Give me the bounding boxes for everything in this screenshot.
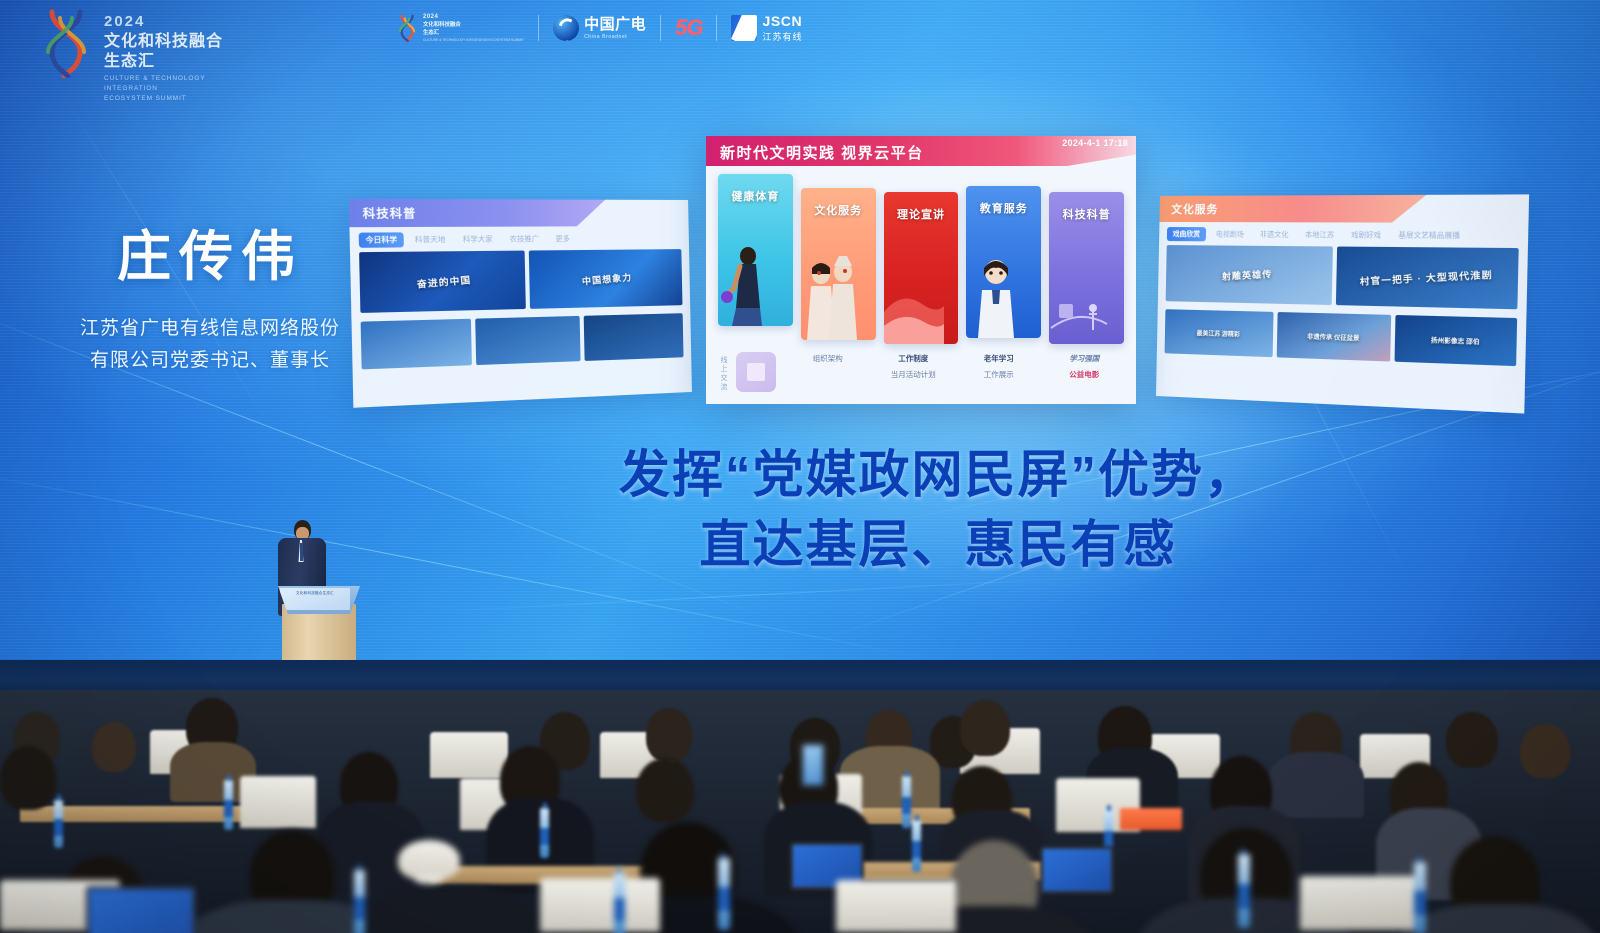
panel-right-thumbs-bottom: 最美江苏 游精彩 非遗传承 仪征盆景 扬州影像志 邵伯 bbox=[1157, 309, 1527, 375]
tab-jiceng-wenyi[interactable]: 基层文艺精品展播 bbox=[1392, 228, 1467, 243]
tab-nongji-tuiguang[interactable]: 农技推广 bbox=[503, 232, 545, 247]
podium-top: 文化和科技融合生态汇 bbox=[278, 586, 360, 614]
video-thumb[interactable]: 射雕英雄传 bbox=[1166, 245, 1333, 305]
tab-more[interactable]: 更多 bbox=[549, 232, 576, 247]
red-flag-illustration bbox=[884, 252, 944, 344]
panel-right-tabs: 戏曲欣赏 电视剧场 非遗文化 本地江苏 戏剧好戏 基层文艺精品展播 bbox=[1159, 222, 1528, 248]
video-thumb[interactable] bbox=[475, 316, 580, 365]
dna-helix-icon bbox=[396, 13, 418, 43]
panel-cultural-services: 文化服务 戏曲欣赏 电视剧场 非遗文化 本地江苏 戏剧好戏 基层文艺精品展播 射… bbox=[1156, 194, 1529, 413]
video-thumb[interactable]: 最美江苏 游精彩 bbox=[1165, 309, 1274, 357]
platform-link-blank bbox=[788, 368, 868, 382]
panel-civilization-practice-platform: 新时代文明实践 视界云平台 2024-4-1 17:18 健康体育 文化服务 bbox=[706, 136, 1136, 404]
podium-banner-text: 文化和科技融合生态汇 bbox=[280, 591, 350, 596]
video-thumb-label: 扬州影像志 邵伯 bbox=[1431, 335, 1480, 346]
video-thumb[interactable] bbox=[584, 313, 684, 361]
ping-pong-player-illustration bbox=[718, 234, 778, 326]
sponsor-china-broadnet: 中国广电 China Broadnet bbox=[539, 15, 660, 41]
conference-photo: 2024 文化和科技融合 生态汇 CULTURE & TECHNOLOGY IN… bbox=[0, 0, 1600, 933]
podium: 文化和科技融合生态汇 bbox=[282, 586, 356, 668]
panel-right-thumbs-top: 射雕英雄传 村官一把手 · 大型现代淮剧 bbox=[1158, 245, 1528, 318]
video-thumb[interactable]: 非遗传承 仪征盆景 bbox=[1276, 312, 1391, 362]
led-screen: 2024 文化和科技融合 生态汇 CULTURE & TECHNOLOGY IN… bbox=[0, 0, 1600, 668]
sponsor-broadnet-en: China Broadnet bbox=[584, 34, 646, 40]
video-thumb[interactable]: 中国想象力 bbox=[529, 249, 683, 309]
phone-recording bbox=[800, 742, 826, 788]
platform-link-work-system[interactable]: 工作制度 bbox=[874, 352, 954, 366]
panel-left-tabs: 今日科学 科普天地 科学大家 农技推广 更多 bbox=[349, 226, 689, 252]
panel-left-title: 科技科普 bbox=[363, 204, 417, 221]
sponsor-summit-year: 2024 bbox=[423, 13, 524, 22]
speaker-title: 江苏省广电有线信息网络股份 有限公司党委书记、董事长 bbox=[60, 313, 360, 376]
category-card-label: 健康体育 bbox=[718, 188, 793, 204]
tab-kepu-tiandi[interactable]: 科普天地 bbox=[408, 232, 452, 247]
slide-headline: 发挥“党媒政网民屏”优势， 直达基层、惠民有感 bbox=[608, 440, 1268, 581]
panel-right-title: 文化服务 bbox=[1171, 201, 1218, 217]
panel-left-thumbs-top: 奋进的中国 中国想象力 bbox=[350, 249, 690, 322]
panel-header: 科技科普 bbox=[349, 199, 689, 227]
logo-year: 2024 bbox=[104, 14, 223, 29]
tab-dianshi-juchang[interactable]: 电视剧场 bbox=[1210, 227, 1250, 241]
speaker-tie bbox=[300, 543, 304, 561]
sponsor-jscn-en: JSCN bbox=[762, 14, 802, 28]
tab-bendi-jiangsu[interactable]: 本地江苏 bbox=[1299, 228, 1341, 243]
logo-name-cn-2: 生态汇 bbox=[104, 52, 223, 71]
five-g-label: 5G bbox=[675, 15, 702, 41]
category-card-label: 科技科普 bbox=[1049, 206, 1124, 222]
headline-line-2: 直达基层、惠民有感 bbox=[608, 510, 1268, 580]
logo-name-en-3: ECOSYSTEM SUMMIT bbox=[104, 94, 223, 104]
qr-code-icon[interactable] bbox=[736, 352, 776, 392]
platform-timestamp: 2024-4-1 17:18 bbox=[1062, 138, 1128, 148]
video-thumb[interactable] bbox=[361, 319, 472, 370]
white-cap bbox=[398, 840, 460, 880]
tab-feiyi-wenhua[interactable]: 非遗文化 bbox=[1254, 227, 1295, 242]
platform-link-work-display[interactable]: 工作展示 bbox=[959, 368, 1039, 382]
speaker-title-line1: 江苏省广电有线信息网络股份 bbox=[60, 313, 360, 344]
sponsor-5g: 5G bbox=[661, 15, 716, 41]
audience-area: 2024 bbox=[0, 690, 1600, 933]
category-card-health-sports[interactable]: 健康体育 bbox=[718, 174, 793, 326]
video-thumb-label: 最美江苏 游精彩 bbox=[1196, 328, 1239, 338]
category-card-science-popularization[interactable]: 科技科普 bbox=[1049, 192, 1124, 344]
panel-left-thumbs-bottom bbox=[352, 313, 692, 378]
platform-link-public-film[interactable]: 公益电影 bbox=[1045, 368, 1125, 382]
video-thumb-label: 奋进的中国 bbox=[416, 272, 471, 290]
category-card-cultural-services[interactable]: 文化服务 bbox=[801, 188, 876, 340]
video-thumb-label: 射雕英雄传 bbox=[1222, 266, 1273, 282]
category-card-label: 教育服务 bbox=[966, 200, 1041, 216]
video-thumb-label: 村官一把手 · 大型现代淮剧 bbox=[1360, 267, 1494, 288]
opera-performers-illustration bbox=[801, 248, 861, 340]
sponsor-bar: 2024 文化和科技融合 生态汇 CULTURE & TECHNOLOGY IN… bbox=[382, 4, 816, 52]
platform-link-org[interactable]: 组织架构 bbox=[788, 352, 868, 366]
tab-xiqu-xinshang[interactable]: 戏曲欣赏 bbox=[1167, 227, 1206, 241]
video-thumb[interactable]: 奋进的中国 bbox=[359, 251, 526, 313]
tab-kexue-dajia[interactable]: 科学大家 bbox=[456, 232, 499, 247]
logo-name-en-2: INTEGRATION bbox=[104, 84, 223, 94]
jscn-mark-icon bbox=[731, 15, 757, 41]
platform-links: 组织架构 工作制度 老年学习 学习强国 当月活动计划 工作展示 公益电影 bbox=[788, 352, 1124, 383]
video-thumb-label: 中国想象力 bbox=[581, 270, 632, 288]
sponsor-jscn-cn: 江苏有线 bbox=[762, 30, 802, 43]
video-thumb[interactable]: 村官一把手 · 大型现代淮剧 bbox=[1336, 247, 1519, 310]
tab-xiju-haoxi[interactable]: 戏剧好戏 bbox=[1345, 228, 1388, 243]
category-card-label: 理论宣讲 bbox=[884, 206, 959, 222]
video-thumb[interactable]: 扬州影像志 邵伯 bbox=[1395, 315, 1517, 366]
sponsor-summit: 2024 文化和科技融合 生态汇 CULTURE & TECHNOLOGY IN… bbox=[382, 13, 538, 43]
china-broadnet-orb-icon bbox=[553, 15, 579, 41]
panel-header: 文化服务 bbox=[1159, 194, 1529, 223]
category-card-education-services[interactable]: 教育服务 bbox=[966, 186, 1041, 338]
category-card-label: 文化服务 bbox=[801, 202, 876, 218]
tab-jinri-kexue[interactable]: 今日科学 bbox=[359, 232, 404, 247]
platform-category-cards: 健康体育 文化服务 bbox=[706, 166, 1136, 350]
podium-banner: 文化和科技融合生态汇 bbox=[280, 588, 350, 610]
platform-title: 新时代文明实践 视界云平台 bbox=[720, 142, 924, 163]
speaker-title-line2: 有限公司党委书记、董事长 bbox=[60, 345, 360, 376]
speaker-name: 庄传伟 bbox=[60, 228, 360, 287]
sponsor-jscn: JSCN 江苏有线 bbox=[717, 14, 816, 43]
category-card-theory-lecture[interactable]: 理论宣讲 bbox=[884, 192, 959, 344]
summit-logo: 2024 文化和科技融合 生态汇 CULTURE & TECHNOLOGY IN… bbox=[38, 8, 223, 104]
sponsor-summit-cn: 文化和科技融合 bbox=[423, 22, 524, 30]
sponsor-summit-en: CULTURE & TECHNOLOGY INTEGRATION ECOSYST… bbox=[423, 38, 524, 43]
logo-name-cn-1: 文化和科技融合 bbox=[104, 32, 223, 52]
headline-line-1: 发挥“党媒政网民屏”优势， bbox=[608, 440, 1268, 510]
panel-science-popularization: 科技科普 今日科学 科普天地 科学大家 农技推广 更多 奋进的中国 中国想象力 bbox=[349, 199, 692, 408]
student-illustration bbox=[966, 246, 1026, 338]
sponsor-broadnet-cn: 中国广电 bbox=[584, 17, 646, 32]
technology-illustration bbox=[1049, 252, 1109, 344]
platform-link-senior-learning[interactable]: 老年学习 bbox=[959, 352, 1039, 366]
logo-name-en-1: CULTURE & TECHNOLOGY bbox=[104, 74, 223, 84]
platform-side-label: 线上交流 bbox=[718, 356, 728, 392]
platform-link-xuexi-qiangguo[interactable]: 学习强国 bbox=[1045, 352, 1125, 366]
speaker-identity: 庄传伟 江苏省广电有线信息网络股份 有限公司党委书记、董事长 bbox=[60, 228, 360, 376]
dna-helix-icon bbox=[38, 8, 94, 78]
platform-bottom-row: 线上交流 组织架构 工作制度 老年学习 学习强国 当月活动计划 工作展示 公益电… bbox=[706, 350, 1136, 400]
platform-link-monthly-plan[interactable]: 当月活动计划 bbox=[874, 368, 954, 382]
video-thumb-label: 非遗传承 仪征盆景 bbox=[1307, 331, 1359, 342]
sponsor-summit-cn2: 生态汇 bbox=[423, 30, 524, 38]
